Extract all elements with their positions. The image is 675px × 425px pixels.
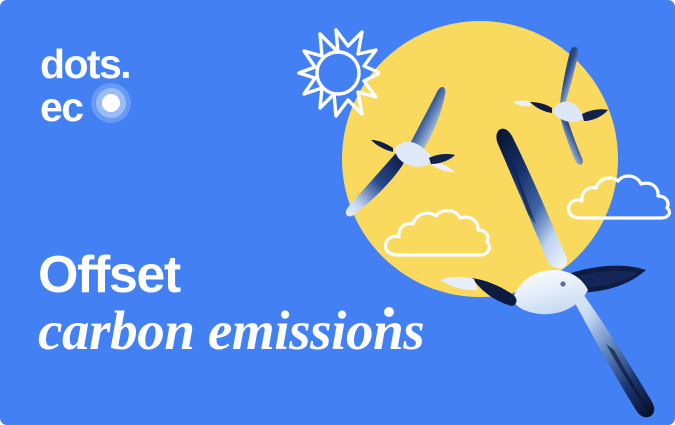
logo-text-dots: dots. xyxy=(40,44,230,85)
brand-logo[interactable]: dots. ec xyxy=(40,44,230,130)
headline: Offset carbon emissions xyxy=(38,248,558,360)
ring-core xyxy=(102,94,120,112)
headline-secondary: carbon emissions xyxy=(38,302,558,360)
offset-carbon-emissions-banner: dots. ec Offset carbon emissions xyxy=(0,0,675,425)
headline-primary: Offset xyxy=(38,248,558,302)
logo-text-eco: ec xyxy=(40,84,82,130)
